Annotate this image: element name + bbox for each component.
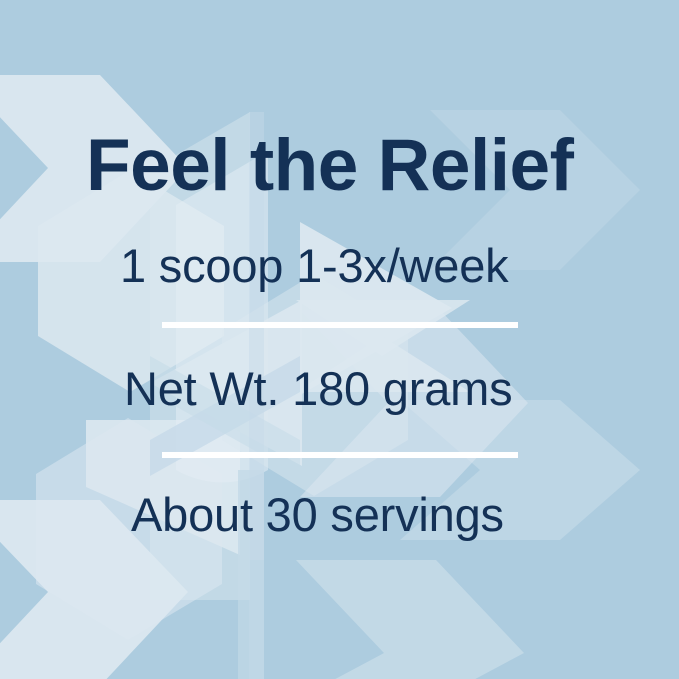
- divider-1: [162, 322, 518, 328]
- page-title: Feel the Relief: [86, 129, 573, 202]
- dosage-text: 1 scoop 1-3x/week: [120, 242, 508, 289]
- label-text-block: Feel the Relief 1 scoop 1-3x/week Net Wt…: [0, 0, 679, 679]
- servings-text: About 30 servings: [131, 491, 504, 538]
- net-weight-text: Net Wt. 180 grams: [124, 365, 512, 412]
- product-label-panel: Feel the Relief 1 scoop 1-3x/week Net Wt…: [0, 0, 679, 679]
- divider-2: [162, 452, 518, 458]
